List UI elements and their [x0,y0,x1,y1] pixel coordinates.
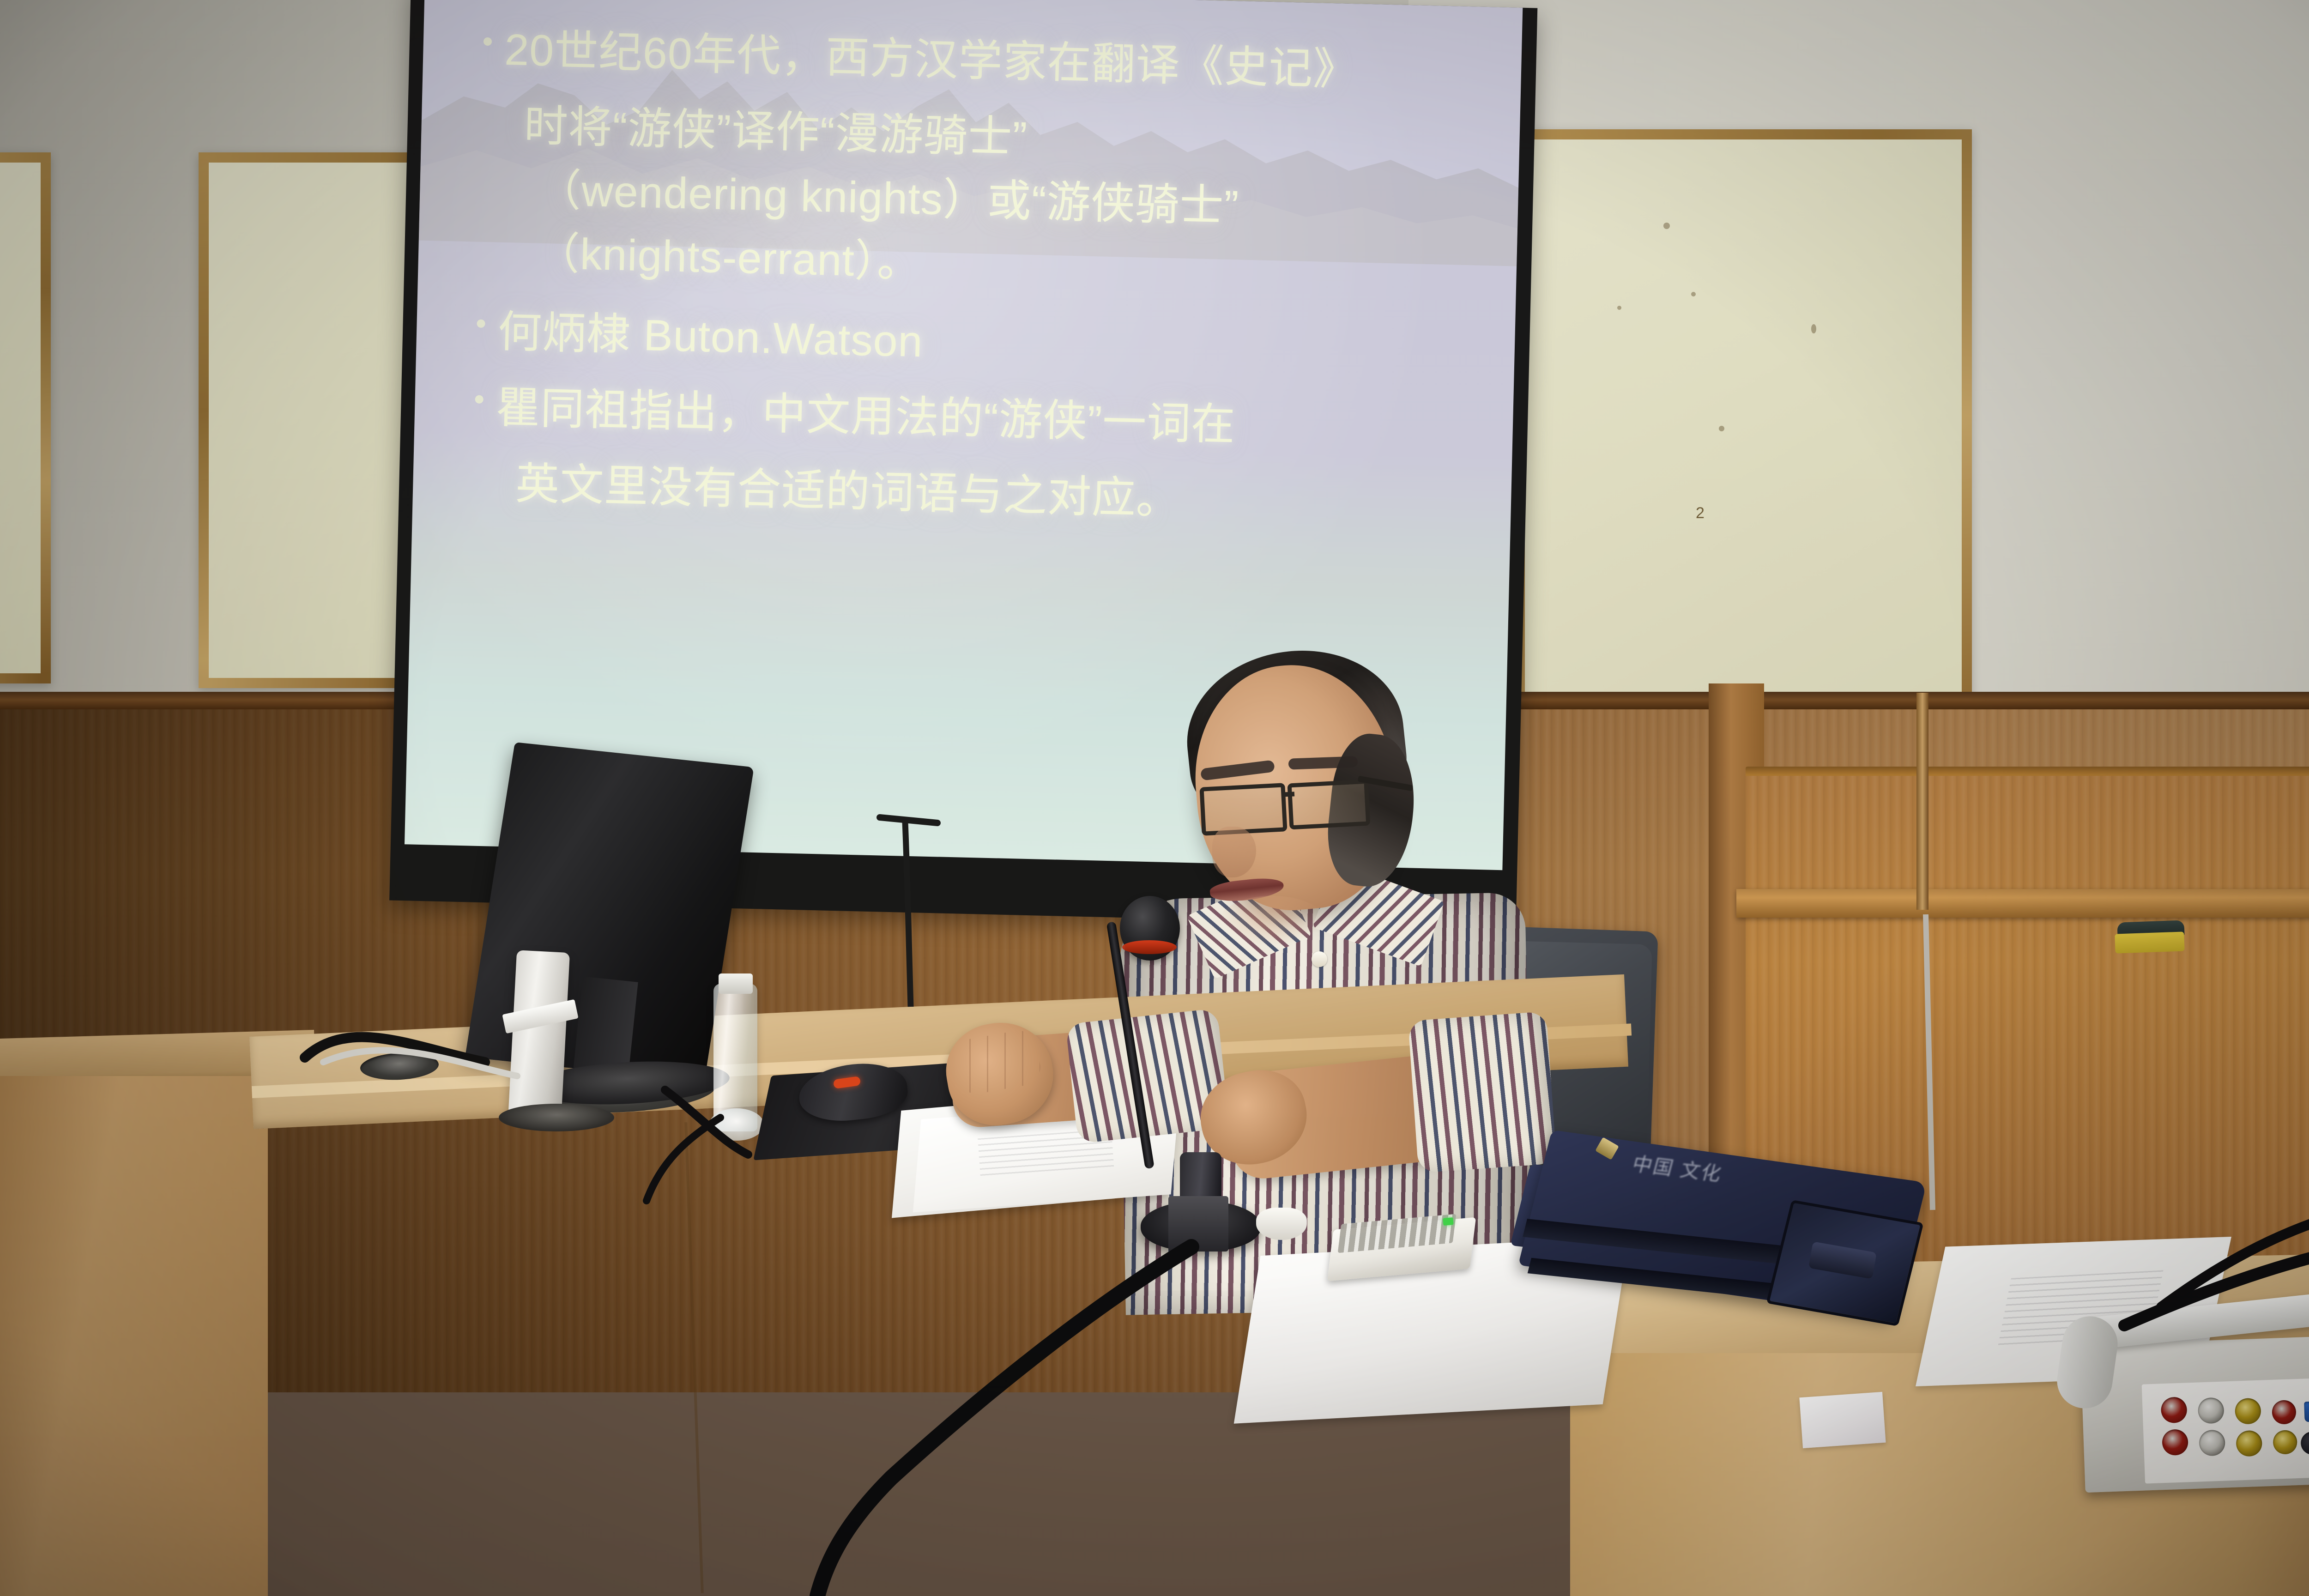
wall-panel-left-edge [0,152,51,683]
lecture-hall-photo: 2 20世纪60年代，西方汉学家在翻译《史记》 时将“游侠”译作“漫游骑士 [0,0,2309,1596]
slide-bullet: 何炳棣 Buton.Watson [476,300,1466,387]
vga-port[interactable] [2304,1400,2309,1422]
wood-ledge [1736,889,2309,918]
microphone-red-ring [1122,940,1177,954]
slide-bullet: 瞿同祖指出，中文用法的“游侠”一词在 [474,375,1464,462]
slide-bullet-text: 何炳棣 Buton.Watson [497,301,1466,387]
right-sleeve [1408,1011,1557,1173]
folded-napkin[interactable] [1799,1392,1886,1448]
glasses-lens-left [1199,783,1287,836]
chin [1219,896,1325,947]
bullet-dot-icon [484,37,492,46]
wall-conduit [1916,693,1928,910]
bottle-cap[interactable] [719,973,753,994]
side-desk-front [0,1076,268,1596]
panel-scribble: 2 [1696,504,1711,514]
bullet-dot-icon [477,320,485,328]
bottle-base-reflection [709,1108,764,1141]
bullet-dot-icon [475,395,484,403]
white-tower-base [499,1104,614,1131]
remote-indicator-led [1443,1217,1453,1226]
white-tower-device[interactable] [508,950,570,1114]
av-faceplate [2142,1375,2309,1483]
shirt-button [1312,951,1327,967]
glasses-lens-right [1287,779,1371,829]
glasses-bridge [1282,792,1294,797]
slide-bullet-text: 瞿同祖指出，中文用法的“游侠”一词在 [496,376,1464,462]
board-eraser[interactable] [2115,931,2184,953]
white-cap-object[interactable] [1256,1208,1307,1240]
slide-body-text: 20世纪60年代，西方汉学家在翻译《史记》 时将“游侠”译作“漫游骑士” （we… [472,18,1472,538]
microphone-base-plate [1168,1196,1228,1251]
